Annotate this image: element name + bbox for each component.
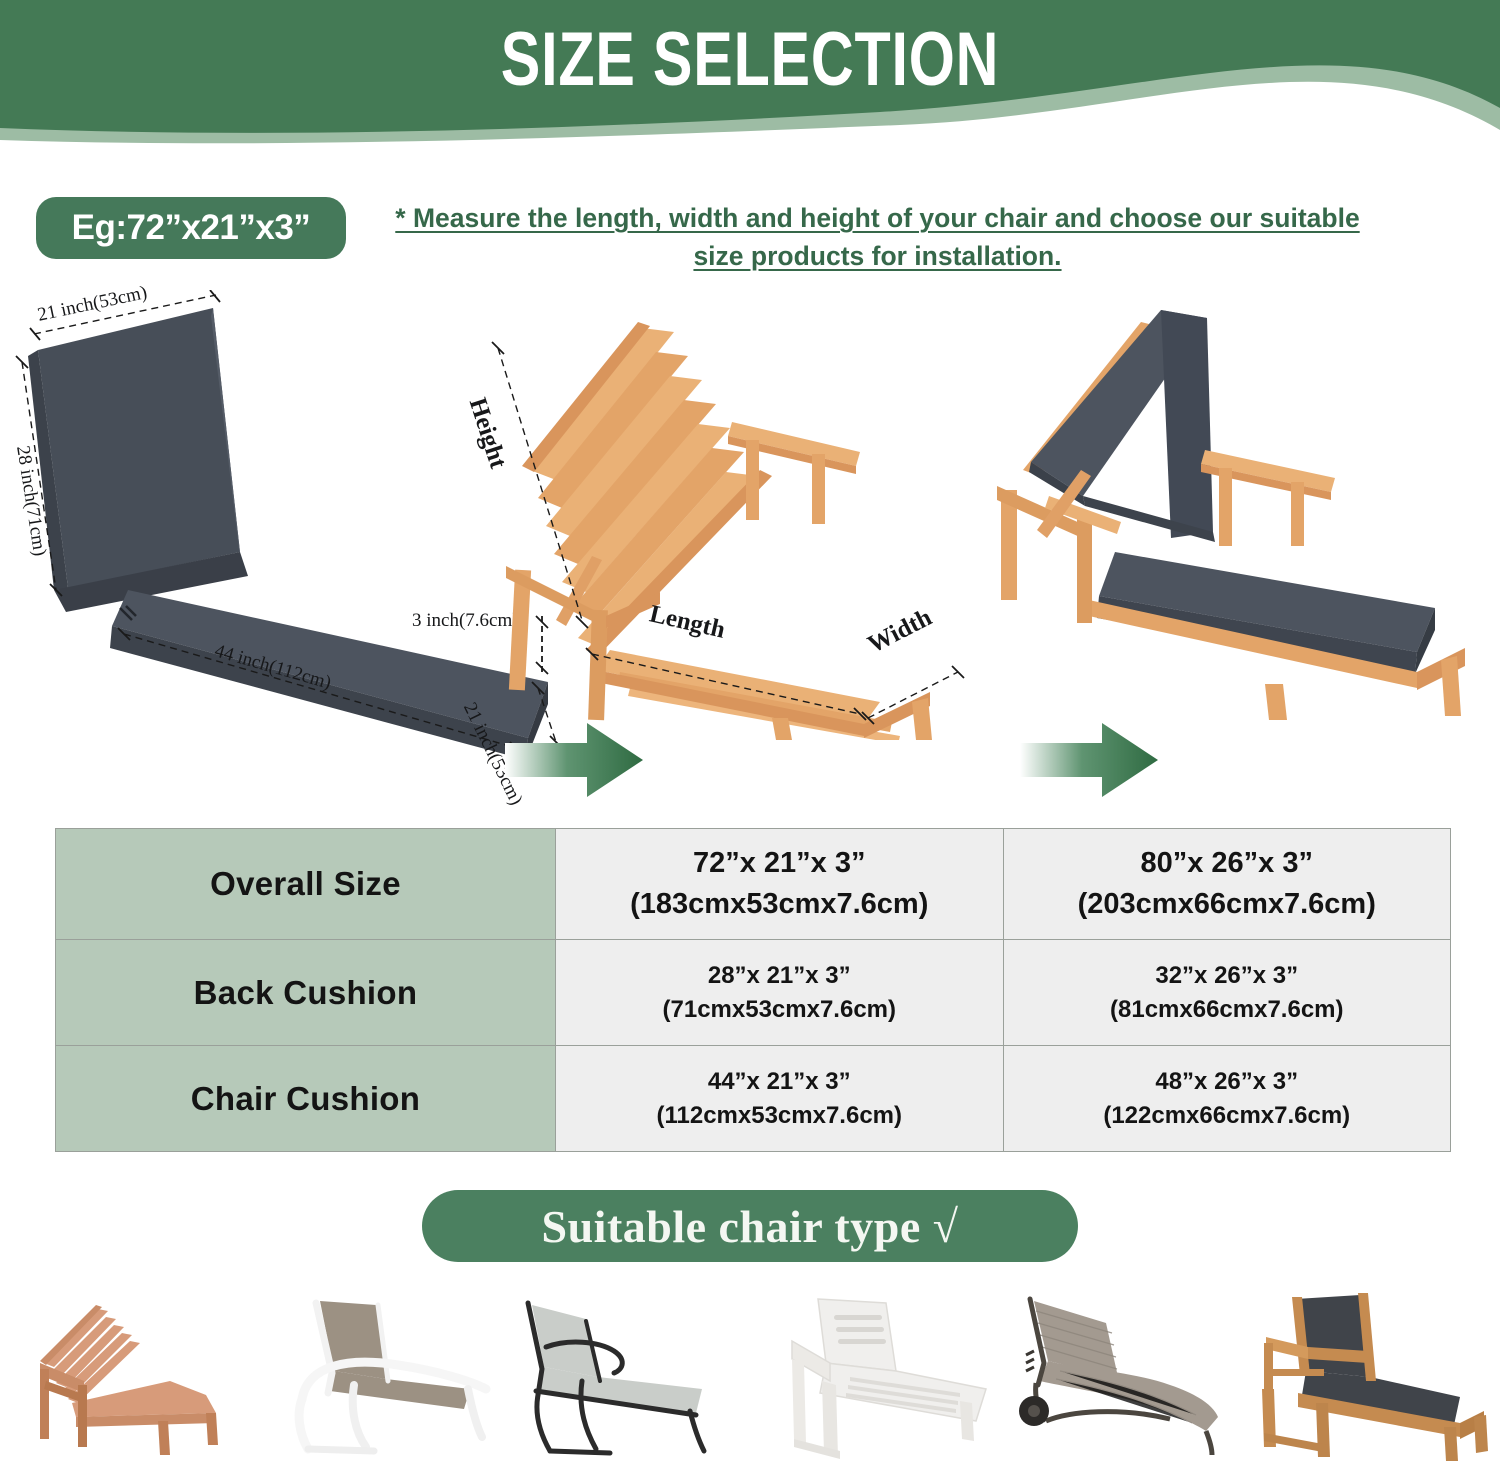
table-row: Overall Size 72”x 21”x 3” (183cmx53cmx7.… <box>56 829 1451 940</box>
size-spec-table: Overall Size 72”x 21”x 3” (183cmx53cmx7.… <box>55 828 1451 1152</box>
cell-inch-value: 44”x 21”x 3” <box>562 1065 997 1099</box>
cell-inch-value: 72”x 21”x 3” <box>562 843 997 884</box>
cell-inch-value: 32”x 26”x 3” <box>1010 959 1445 993</box>
row-label-back-cushion: Back Cushion <box>56 940 556 1046</box>
process-arrow-1 <box>495 715 695 805</box>
table-row: Chair Cushion 44”x 21”x 3” (112cmx53cmx7… <box>56 1046 1451 1152</box>
cell-cm-value: (81cmx66cmx7.6cm) <box>1010 993 1445 1027</box>
table-row: Back Cushion 28”x 21”x 3” (71cmx53cmx7.6… <box>56 940 1451 1046</box>
row-label-chair-cushion: Chair Cushion <box>56 1046 556 1152</box>
cell-overall-size-a: 72”x 21”x 3” (183cmx53cmx7.6cm) <box>556 829 1004 940</box>
cell-cm-value: (183cmx53cmx7.6cm) <box>562 884 997 925</box>
cell-inch-value: 80”x 26”x 3” <box>1010 843 1445 884</box>
cell-cm-value: (122cmx66cmx7.6cm) <box>1010 1099 1445 1133</box>
cell-chair-cushion-a: 44”x 21”x 3” (112cmx53cmx7.6cm) <box>556 1046 1004 1152</box>
cell-back-cushion-b: 32”x 26”x 3” (81cmx66cmx7.6cm) <box>1003 940 1451 1046</box>
suitable-chair-type-label: Suitable chair type √ <box>542 1200 959 1253</box>
measure-instruction: * Measure the length, width and height o… <box>375 200 1380 275</box>
wooden-chair-illustration <box>460 320 980 740</box>
cell-inch-value: 48”x 26”x 3” <box>1010 1065 1445 1099</box>
cell-overall-size-b: 80”x 26”x 3” (203cmx66cmx7.6cm) <box>1003 829 1451 940</box>
cell-inch-value: 28”x 21”x 3” <box>562 959 997 993</box>
thumbnail-wood-frame-gray-cushion-lounger <box>1248 1285 1498 1468</box>
chair-with-cushion-illustration <box>965 300 1485 720</box>
thumbnail-wooden-slat-lounger <box>10 1285 260 1468</box>
thumbnail-wicker-rattan-lounger <box>1000 1285 1250 1468</box>
diagram-row: 21 inch(53cm) 28 inch(71cm) 44 inch(112c… <box>0 285 1500 815</box>
cell-cm-value: (112cmx53cmx7.6cm) <box>562 1099 997 1133</box>
cell-chair-cushion-b: 48”x 26”x 3” (122cmx66cmx7.6cm) <box>1003 1046 1451 1152</box>
process-arrow-2 <box>1010 715 1210 805</box>
page-title: SIZE SELECTION <box>165 20 1335 100</box>
thumbnail-white-plastic-lounger <box>754 1285 1004 1468</box>
suitable-chair-type-banner: Suitable chair type √ <box>422 1190 1078 1262</box>
header-banner: SIZE SELECTION <box>0 0 1500 185</box>
suitable-chair-thumbnail-row <box>0 1285 1500 1468</box>
thumbnail-black-frame-sling-lounger <box>506 1285 756 1468</box>
example-size-badge: Eg:72”x21”x3” <box>36 197 346 259</box>
cell-cm-value: (71cmx53cmx7.6cm) <box>562 993 997 1027</box>
example-size-badge-label: Eg:72”x21”x3” <box>72 208 311 248</box>
cell-cm-value: (203cmx66cmx7.6cm) <box>1010 884 1445 925</box>
cell-back-cushion-a: 28”x 21”x 3” (71cmx53cmx7.6cm) <box>556 940 1004 1046</box>
thumbnail-white-sling-lounger <box>258 1285 508 1468</box>
row-label-overall-size: Overall Size <box>56 829 556 940</box>
